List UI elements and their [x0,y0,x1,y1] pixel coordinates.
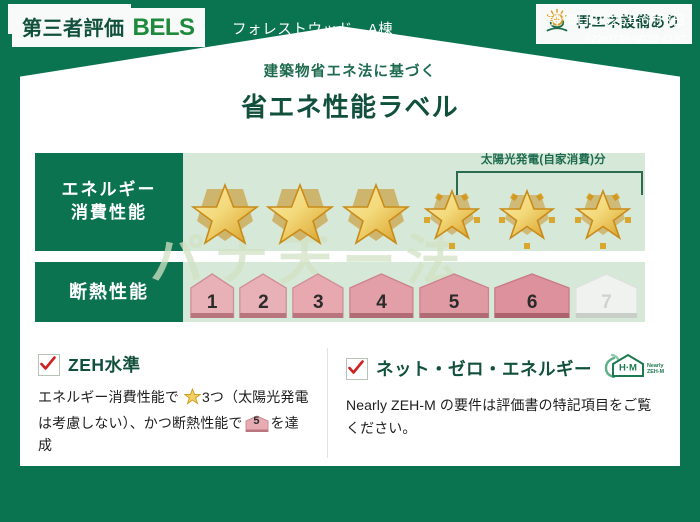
svg-text:ZEH-M: ZEH-M [647,369,664,375]
bels-logo-text: BELS [133,14,195,42]
nearly-zeh-m-logo-icon: H·M Nearly ZEH-M [602,352,664,385]
insulation-grade-value: 5 [449,292,460,318]
zeh-standard-title: ZEH水準 [68,352,141,377]
net-zero-energy-heading: ネット・ゼロ・エネルギー H·M Nearly ZEH-M [346,352,664,385]
label-subtitle: 建築物省エネ法に基づく [0,60,700,81]
insulation-grade-value: 3 [313,292,324,318]
inline-grade-value: 5 [245,415,269,432]
label-title: 省エネ性能ラベル [0,87,700,124]
energy-performance-label-line1: エネルギー [62,179,157,202]
insulation-grade-value: 2 [258,292,269,318]
insulation-performance-label: 断熱性能 [35,262,183,322]
star-filled [266,177,334,249]
zeh-standard-block: ZEH水準 エネルギー消費性能で 3つ（太陽光発電は考慮しない）、かつ断熱性能で… [20,348,328,458]
solar-range-bracket [456,171,643,195]
net-zero-energy-description: Nearly ZEH-M の要件は評価書の特記項目をご覧ください。 [346,394,664,439]
insulation-grade-value: 6 [527,292,538,318]
certification-summary: ZEH水準 エネルギー消費性能で 3つ（太陽光発電は考慮しない）、かつ断熱性能で… [20,348,680,458]
svg-text:H·M: H·M [619,363,637,374]
insulation-grade-value: 1 [207,292,218,318]
insulation-grade-badge: 2 [238,272,288,318]
insulation-grade-value: 7 [601,292,612,318]
net-zero-energy-block: ネット・ゼロ・エネルギー H·M Nearly ZEH-M Nearly ZEH… [328,348,680,458]
footer-bar [0,466,700,522]
zeh-desc-part-a: エネルギー消費性能で [38,389,179,405]
insulation-performance-body: 1 2 3 4 [183,262,645,322]
net-zero-energy-title: ネット・ゼロ・エネルギー [376,356,592,381]
star-filled [191,177,259,249]
evaluation-info: 評価日 2025年6月3日 622ef738-a028-4197 [547,10,686,45]
energy-performance-label-line2: 消費性能 [71,202,147,225]
insulation-grade-badge-inactive: 7 [574,272,639,318]
label-title-block: 建築物省エネ法に基づく 省エネ性能ラベル [0,60,700,124]
insulation-grade-value: 4 [376,292,387,318]
check-icon [38,354,60,376]
insulation-grade-badge: 3 [291,272,345,318]
building-name: フォレストウッド A棟 [232,18,393,39]
insulation-grade-group: 1 2 3 4 [183,262,645,322]
insulation-grade-badge: 6 [493,272,571,318]
energy-performance-body: 太陽光発電(自家消費)分 [183,153,645,251]
insulation-grade-badge: 4 [348,272,415,318]
energy-performance-label: エネルギー 消費性能 [35,153,183,251]
inline-grade-badge-icon: 5 [245,415,269,432]
insulation-performance-row: 断熱性能 1 2 [35,262,645,322]
evaluation-id: 622ef738-a028-4197 [547,33,686,45]
third-party-eval-label: 第三者評価 [22,12,125,41]
insulation-grade-badge: 1 [189,272,235,318]
solar-bracket-label: 太陽光発電(自家消費)分 [442,151,645,167]
insulation-grade-badge: 5 [418,272,490,318]
insulation-performance-label-text: 断熱性能 [69,280,149,304]
inline-star-icon [184,388,201,412]
bels-certification-chip: 第三者評価 BELS [12,8,205,47]
zeh-standard-description: エネルギー消費性能で 3つ（太陽光発電は考慮しない）、かつ断熱性能で 5 を達成 [38,386,311,457]
star-filled [342,177,410,249]
evaluation-date: 評価日 2025年6月3日 [547,10,686,30]
energy-performance-row: エネルギー 消費性能 太陽光発電(自家消費)分 [35,153,645,251]
zeh-standard-heading: ZEH水準 [38,352,311,377]
check-icon [346,358,368,380]
